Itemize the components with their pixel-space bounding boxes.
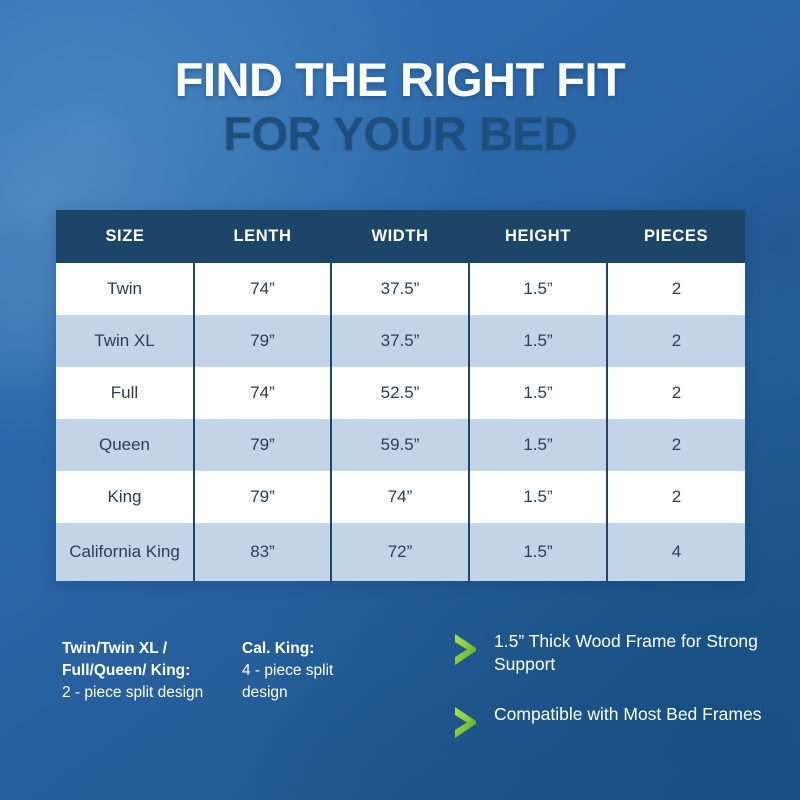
cell-pieces: 2 — [607, 419, 745, 471]
cell-pieces: 2 — [607, 263, 745, 315]
feature-list: 1.5” Thick Wood Frame for Strong Support… — [452, 630, 782, 739]
split-design-notes: Twin/Twin XL / Full/Queen/ King: 2 - pie… — [62, 638, 382, 704]
title-line-primary: FIND THE RIGHT FIT — [0, 56, 800, 103]
cell-width: 72” — [331, 523, 469, 581]
cell-width: 74” — [331, 471, 469, 523]
table-row: California King 83” 72” 1.5” 4 — [56, 523, 745, 581]
cell-length: 79” — [194, 419, 331, 471]
cell-pieces: 4 — [607, 523, 745, 581]
note-heading: Cal. King: — [242, 638, 382, 660]
cell-height: 1.5” — [469, 523, 607, 581]
cell-pieces: 2 — [607, 315, 745, 367]
column-header-height: HEIGHT — [469, 210, 607, 263]
table-body: Twin 74” 37.5” 1.5” 2 Twin XL 79” 37.5” … — [56, 263, 745, 581]
infographic-page: FIND THE RIGHT FIT FOR YOUR BED SIZE LEN… — [0, 0, 800, 800]
note-heading: Twin/Twin XL / Full/Queen/ King: — [62, 638, 212, 682]
cell-width: 37.5” — [331, 315, 469, 367]
cell-height: 1.5” — [469, 419, 607, 471]
chevron-right-icon — [452, 632, 480, 666]
size-chart-table-container: SIZE LENTH WIDTH HEIGHT PIECES Twin 74” … — [56, 210, 745, 581]
cell-length: 74” — [194, 367, 331, 419]
cell-width: 37.5” — [331, 263, 469, 315]
cell-size: California King — [56, 523, 194, 581]
cell-size: Twin — [56, 263, 194, 315]
feature-label: 1.5” Thick Wood Frame for Strong Support — [494, 630, 782, 677]
title-line-secondary: FOR YOUR BED — [0, 110, 800, 157]
cell-width: 59.5” — [331, 419, 469, 471]
cell-height: 1.5” — [469, 263, 607, 315]
table-row: Queen 79” 59.5” 1.5” 2 — [56, 419, 745, 471]
note-body: 4 - piece split design — [242, 660, 382, 704]
column-header-pieces: PIECES — [607, 210, 745, 263]
table-header-row: SIZE LENTH WIDTH HEIGHT PIECES — [56, 210, 745, 263]
cell-size: King — [56, 471, 194, 523]
note-standard-sizes: Twin/Twin XL / Full/Queen/ King: 2 - pie… — [62, 638, 212, 704]
cell-height: 1.5” — [469, 471, 607, 523]
cell-height: 1.5” — [469, 315, 607, 367]
size-chart-table: SIZE LENTH WIDTH HEIGHT PIECES Twin 74” … — [56, 210, 745, 581]
cell-length: 79” — [194, 471, 331, 523]
page-title: FIND THE RIGHT FIT FOR YOUR BED — [0, 0, 800, 157]
chevron-right-icon — [452, 705, 480, 739]
column-header-size: SIZE — [56, 210, 194, 263]
table-header: SIZE LENTH WIDTH HEIGHT PIECES — [56, 210, 745, 263]
column-header-width: WIDTH — [331, 210, 469, 263]
cell-pieces: 2 — [607, 471, 745, 523]
cell-pieces: 2 — [607, 367, 745, 419]
cell-width: 52.5” — [331, 367, 469, 419]
table-row: Twin 74” 37.5” 1.5” 2 — [56, 263, 745, 315]
cell-length: 74” — [194, 263, 331, 315]
table-row: King 79” 74” 1.5” 2 — [56, 471, 745, 523]
note-body: 2 - piece split design — [62, 682, 212, 704]
table-row: Full 74” 52.5” 1.5” 2 — [56, 367, 745, 419]
cell-height: 1.5” — [469, 367, 607, 419]
note-cal-king: Cal. King: 4 - piece split design — [242, 638, 382, 704]
cell-size: Twin XL — [56, 315, 194, 367]
cell-size: Queen — [56, 419, 194, 471]
column-header-length: LENTH — [194, 210, 331, 263]
cell-length: 79” — [194, 315, 331, 367]
cell-size: Full — [56, 367, 194, 419]
table-row: Twin XL 79” 37.5” 1.5” 2 — [56, 315, 745, 367]
footer-section: Twin/Twin XL / Full/Queen/ King: 2 - pie… — [0, 630, 800, 800]
feature-label: Compatible with Most Bed Frames — [494, 703, 761, 726]
cell-length: 83” — [194, 523, 331, 581]
feature-item: 1.5” Thick Wood Frame for Strong Support — [452, 630, 782, 677]
feature-item: Compatible with Most Bed Frames — [452, 703, 782, 739]
